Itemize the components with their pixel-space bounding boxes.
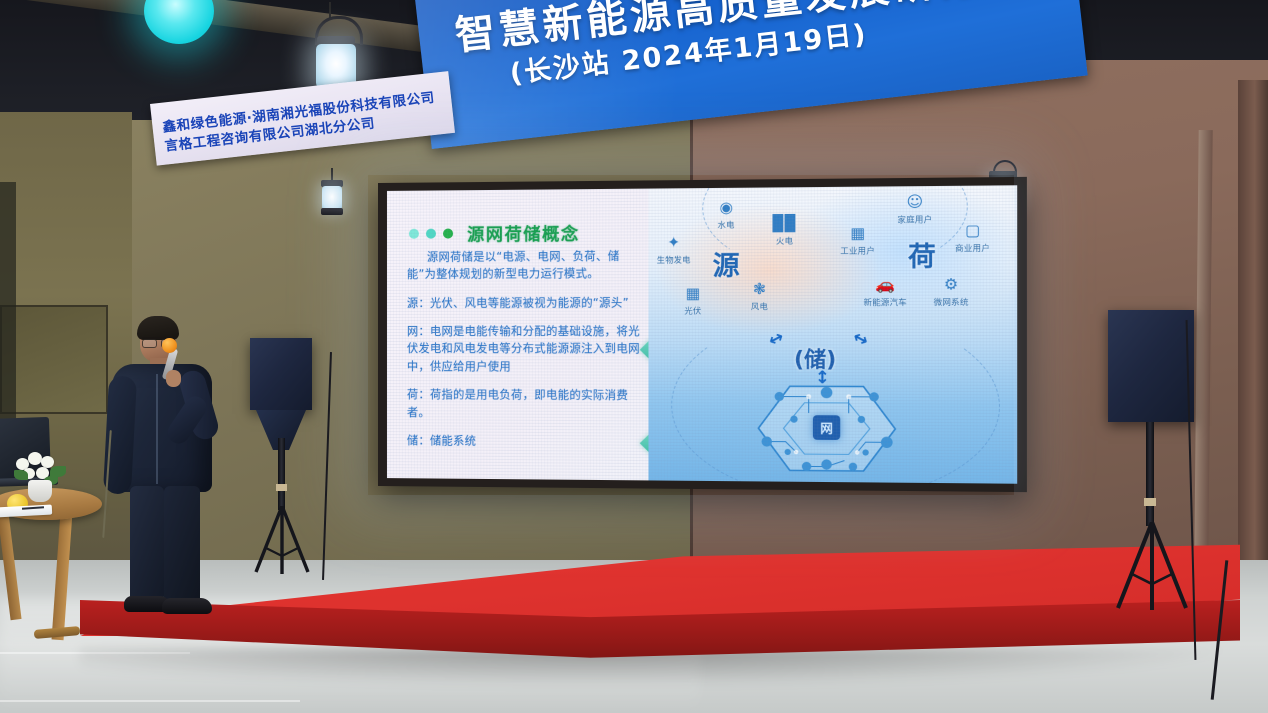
flower-vase xyxy=(28,480,52,502)
slide-paragraph: 荷：荷指的是用电负荷，即电能的实际消费者。 xyxy=(407,386,642,422)
speaker-pole-collar xyxy=(1144,498,1156,506)
ev-icon: 🚗 xyxy=(871,273,899,296)
slide-body-text: 源网荷储是以“电源、电网、负荷、储能”为整体规划的新型电力运行模式。 源：光伏、… xyxy=(407,248,642,463)
solar-icon: ▦ xyxy=(679,282,706,305)
presenter-right-leg xyxy=(164,486,200,604)
node-industrial-user: ▦ 工业用户 xyxy=(840,222,875,257)
industrial-user-icon: ▦ xyxy=(844,222,871,245)
hydro-icon: ◉ xyxy=(713,196,740,219)
energy-flow-diagram: 源 ◉ 水电 ▉▉ 火电 ✦ 生物发电 ▦ 光伏 xyxy=(648,185,1017,483)
bullet-dot-icon xyxy=(409,228,419,238)
microgrid-icon: ⚙ xyxy=(937,273,965,296)
node-label: 工业用户 xyxy=(840,245,875,257)
speaker-tripod-legs xyxy=(250,506,314,578)
node-label: 风电 xyxy=(746,301,773,312)
presenter-right-shoe xyxy=(162,598,212,614)
wall-recess-panel xyxy=(0,305,108,414)
floor-tile-line xyxy=(0,700,300,702)
node-label: 光伏 xyxy=(679,305,706,316)
slide-title: 源网荷储概念 xyxy=(467,220,580,246)
slide-paragraph: 源：光伏、风电等能源被视为能源的“源头” xyxy=(407,294,642,312)
banner-subtitle: (长沙站 2024年1月19日) xyxy=(507,0,1068,91)
node-commercial-user: ▢ 商业用户 xyxy=(955,219,990,254)
slide-paragraph: 储：储能系统 xyxy=(407,432,642,451)
speaker-pole-collar xyxy=(276,484,287,491)
grid-center-label: 网 xyxy=(813,415,840,440)
node-label: 家庭用户 xyxy=(897,214,932,226)
microphone-icon xyxy=(162,338,177,353)
presentation-room-photo: 智慧新能源高质量发展研讨会 (长沙站 2024年1月19日) 鑫和绿色能源·湖南… xyxy=(0,0,1268,713)
pa-speaker-right xyxy=(1108,310,1194,422)
slide-paragraph: 源网荷储是以“电源、电网、负荷、储能”为整体规划的新型电力运行模式。 xyxy=(407,248,642,284)
node-label: 水电 xyxy=(713,219,740,230)
node-label: 新能源汽车 xyxy=(863,297,906,308)
node-wind: ❃ 风电 xyxy=(746,278,773,313)
presenter-left-leg xyxy=(130,486,164,602)
bullet-dot-icon xyxy=(443,228,453,238)
bullet-dot-icon xyxy=(426,228,436,238)
presenter-hand xyxy=(166,370,181,387)
slide-paragraph: 网：电网是电能传输和分配的基础设施，将光伏发电和风电发电等分布式能源源注入到电网… xyxy=(407,323,642,376)
grid-network-graphic: 网 xyxy=(748,378,906,480)
wind-icon: ❃ xyxy=(746,278,773,301)
speaker-cabinet xyxy=(250,338,312,410)
node-microgrid: ⚙ 微网系统 xyxy=(934,273,969,308)
node-label: 生物发电 xyxy=(657,254,691,265)
biomass-icon: ✦ xyxy=(660,231,687,254)
node-hydro: ◉ 水电 xyxy=(713,196,740,231)
node-ev: 🚗 新能源汽车 xyxy=(863,273,906,308)
node-label: 微网系统 xyxy=(934,297,969,308)
presenter xyxy=(100,318,230,620)
node-label: 火电 xyxy=(771,235,798,246)
banner-title: 智慧新能源高质量发展研讨会 xyxy=(452,0,1075,62)
node-biomass: ✦ 生物发电 xyxy=(657,231,691,266)
pa-speaker-left xyxy=(250,338,312,410)
node-solar: ▦ 光伏 xyxy=(679,282,706,317)
led-screen-bezel: 源网荷储概念 源网荷储是以“电源、电网、负荷、储能”为整体规划的新型电力运行模式… xyxy=(378,177,1027,492)
speaker-cabinet xyxy=(1108,310,1194,422)
thermal-icon: ▉▉ xyxy=(771,212,798,235)
slide-title-row: 源网荷储概念 xyxy=(409,220,580,246)
commercial-user-icon: ▢ xyxy=(959,219,987,242)
presentation-slide: 源网荷储概念 源网荷储是以“电源、电网、负荷、储能”为整体规划的新型电力运行模式… xyxy=(387,185,1017,483)
wall-column xyxy=(1238,80,1268,640)
speaker-pole xyxy=(278,438,285,510)
node-thermal: ▉▉ 火电 xyxy=(771,212,798,247)
home-user-icon: ☺ xyxy=(901,190,929,213)
node-label: 商业用户 xyxy=(955,243,990,255)
small-lantern-icon xyxy=(319,176,345,222)
speaker-pole xyxy=(1146,422,1154,526)
source-label: 源 xyxy=(713,245,740,283)
load-label: 荷 xyxy=(908,236,936,274)
jacket-zipper xyxy=(156,374,158,484)
speaker-tripod-legs xyxy=(1112,522,1192,614)
node-home-user: ☺ 家庭用户 xyxy=(897,190,932,225)
